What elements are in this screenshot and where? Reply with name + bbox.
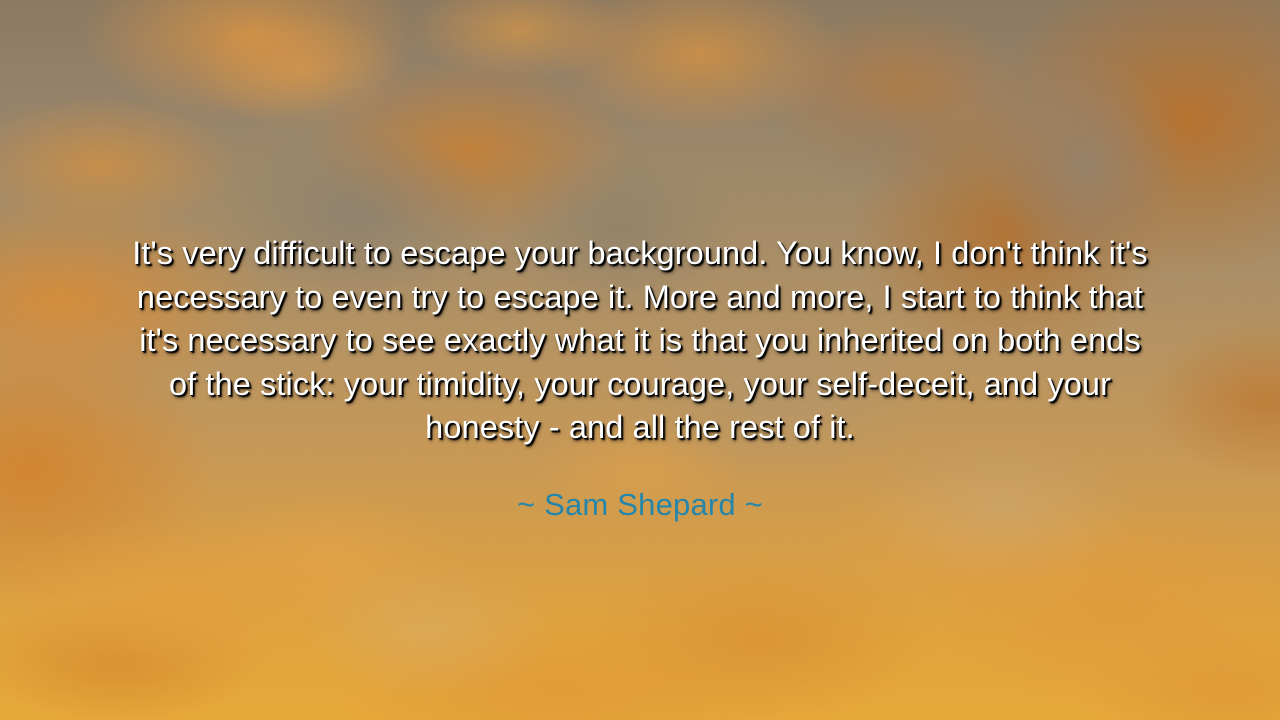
quote-attribution: ~ Sam Shepard ~ xyxy=(517,487,763,523)
quote-text: It's very difficult to escape your backg… xyxy=(132,232,1148,450)
quote-content: It's very difficult to escape your backg… xyxy=(0,232,1280,523)
quote-card: It's very difficult to escape your backg… xyxy=(0,0,1280,720)
